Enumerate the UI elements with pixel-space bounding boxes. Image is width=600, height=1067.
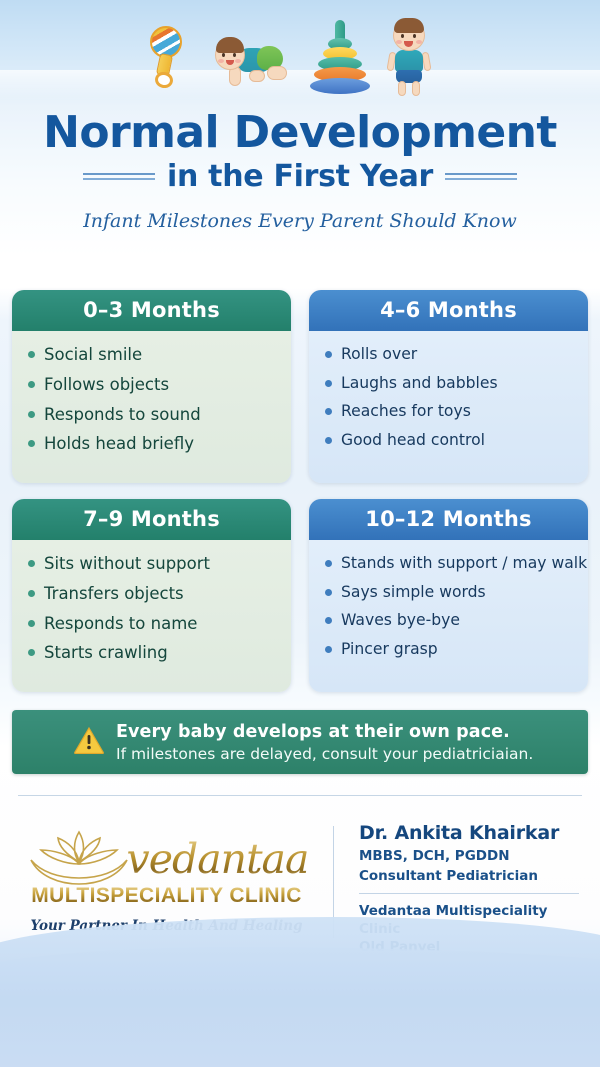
crawl-baby-eye-left — [222, 53, 225, 57]
disclaimer-line-1: Every baby develops at their own pace. — [116, 722, 533, 742]
title-block: Normal Development in the First Year Inf… — [0, 110, 600, 232]
list-item: Transfers objects — [26, 584, 281, 604]
stand-baby-hair — [394, 18, 424, 33]
list-item: Social smile — [26, 345, 281, 365]
card-body-0-3: Social smile Follows objects Responds to… — [12, 331, 291, 483]
doctor-designation: Consultant Pediatrician — [359, 868, 590, 884]
infographic-page: Normal Development in the First Year Inf… — [0, 0, 600, 1067]
doctor-name: Dr. Ankita Khairkar — [359, 822, 590, 844]
brand-name: vedantaa — [127, 839, 309, 880]
bottom-wave-front — [0, 917, 600, 1067]
disclaimer-line-2: If milestones are delayed, consult your … — [116, 745, 533, 763]
list-item: Laughs and babbles — [323, 374, 578, 393]
doctor-qualifications: MBBS, DCH, PGDDN — [359, 848, 590, 864]
list-item: Stands with support / may walk — [323, 554, 578, 573]
crawling-baby-icon — [215, 26, 287, 90]
header-illustration — [0, 14, 600, 106]
stand-baby-leg-right — [412, 81, 420, 96]
crawl-baby-hair — [216, 37, 244, 53]
rattle-ring — [154, 70, 175, 89]
milestone-card-10-12: 10–12 Months Stands with support / may w… — [309, 499, 588, 692]
milestone-list-0-3: Social smile Follows objects Responds to… — [26, 345, 281, 454]
card-body-4-6: Rolls over Laughs and babbles Reaches fo… — [309, 331, 588, 483]
page-title: Normal Development — [0, 110, 600, 157]
milestone-list-7-9: Sits without support Transfers objects R… — [26, 554, 281, 663]
card-heading-7-9: 7–9 Months — [12, 499, 291, 540]
stand-baby-eye-left — [401, 34, 404, 38]
disclaimer-banner: Every baby develops at their own pace. I… — [12, 710, 588, 774]
footer-separator — [18, 795, 582, 796]
milestone-list-10-12: Stands with support / may walk Says simp… — [323, 554, 578, 659]
stack-ring-5 — [310, 78, 370, 94]
milestone-cards: 0–3 Months Social smile Follows objects … — [12, 290, 588, 692]
list-item: Reaches for toys — [323, 402, 578, 421]
page-tagline: Infant Milestones Every Parent Should Kn… — [0, 210, 600, 232]
stand-baby-cheek-left — [396, 40, 402, 44]
card-heading-0-3: 0–3 Months — [12, 290, 291, 331]
card-heading-4-6: 4–6 Months — [309, 290, 588, 331]
lotus-flower-icon — [25, 828, 133, 890]
crawl-baby-leg-back — [267, 66, 287, 80]
list-item: Starts crawling — [26, 643, 281, 663]
list-item: Follows objects — [26, 375, 281, 395]
list-item: Waves bye-bye — [323, 611, 578, 630]
milestone-card-4-6: 4–6 Months Rolls over Laughs and babbles… — [309, 290, 588, 483]
crawl-baby-leg-front — [249, 70, 265, 82]
list-item: Sits without support — [26, 554, 281, 574]
list-item: Pincer grasp — [323, 640, 578, 659]
list-item: Good head control — [323, 431, 578, 450]
crawl-baby-cheek-left — [218, 59, 224, 63]
disclaimer-text: Every baby develops at their own pace. I… — [70, 722, 533, 763]
card-heading-10-12: 10–12 Months — [309, 499, 588, 540]
milestone-card-7-9: 7–9 Months Sits without support Transfer… — [12, 499, 291, 692]
illustration-floor — [0, 70, 600, 100]
stacking-rings-icon — [310, 20, 370, 94]
crawl-baby-eye-right — [233, 53, 236, 57]
subtitle-row: in the First Year — [0, 159, 600, 194]
stand-baby-cheek-right — [416, 40, 422, 44]
rattle-icon — [142, 26, 188, 88]
list-item: Responds to name — [26, 614, 281, 634]
page-subtitle: in the First Year — [167, 159, 433, 194]
list-item: Says simple words — [323, 583, 578, 602]
stand-baby-eye-right — [413, 34, 416, 38]
stand-baby-leg-left — [398, 81, 406, 96]
crawl-baby-cheek-right — [235, 59, 241, 63]
milestone-card-0-3: 0–3 Months Social smile Follows objects … — [12, 290, 291, 483]
card-body-10-12: Stands with support / may walk Says simp… — [309, 540, 588, 692]
rule-left — [83, 170, 155, 183]
list-item: Responds to sound — [26, 405, 281, 425]
stand-baby-shirt — [395, 50, 423, 72]
milestone-list-4-6: Rolls over Laughs and babbles Reaches fo… — [323, 345, 578, 450]
rule-right — [445, 170, 517, 183]
logo-row: vedantaa — [25, 828, 309, 890]
warning-triangle-icon — [74, 727, 104, 754]
list-item: Holds head briefly — [26, 434, 281, 454]
brand-subtitle: MULTISPECIALITY CLINIC — [31, 884, 302, 908]
doctor-rule — [359, 893, 579, 894]
card-body-7-9: Sits without support Transfers objects R… — [12, 540, 291, 692]
list-item: Rolls over — [323, 345, 578, 364]
standing-baby-icon — [385, 20, 433, 96]
